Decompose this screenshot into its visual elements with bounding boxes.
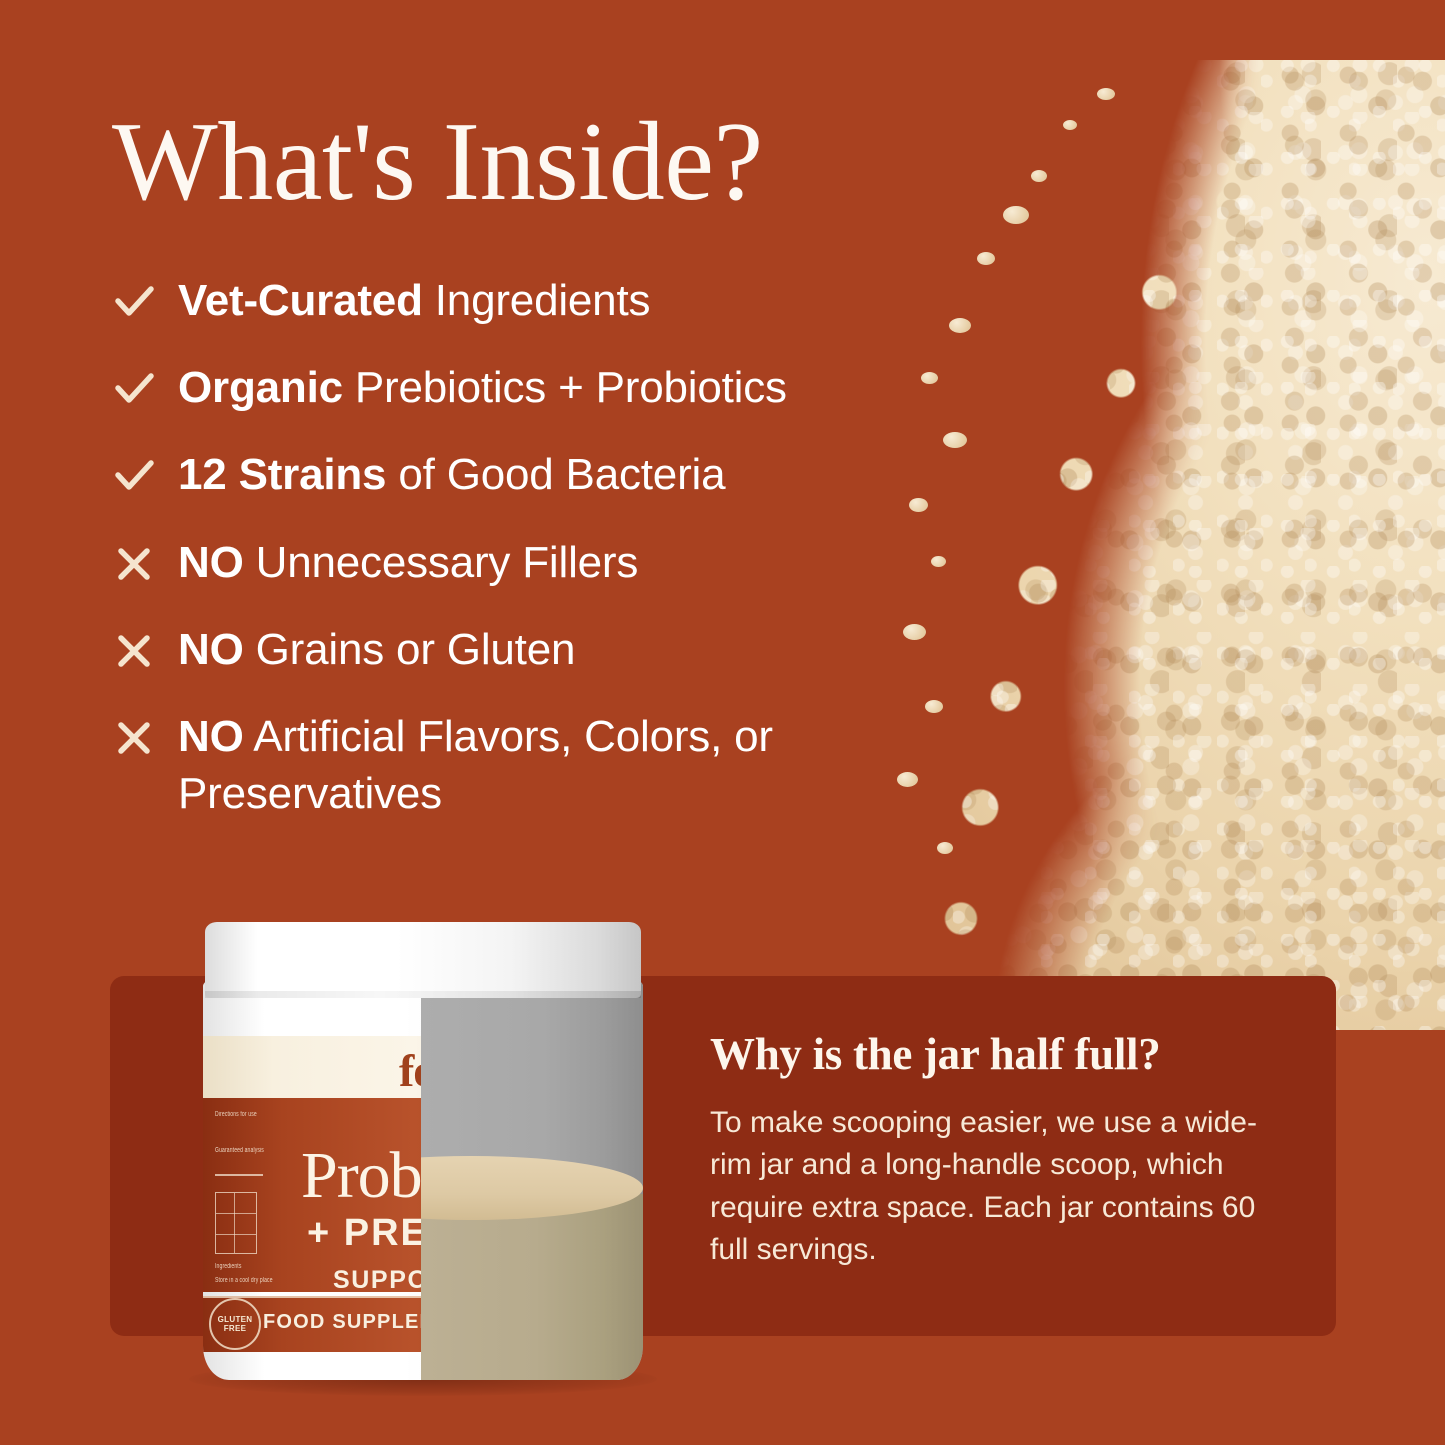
benefit-highlight: NO: [178, 538, 244, 587]
product-jar: Directions for use Guaranteed analysis I…: [203, 922, 643, 1390]
benefit-rest: Prebiotics + Probiotics: [343, 363, 787, 412]
benefit-item: Organic Prebiotics + Probiotics: [108, 359, 1008, 416]
benefit-rest: Unnecessary Fillers: [244, 538, 639, 587]
powder-crumb: [1097, 88, 1115, 100]
check-icon: [108, 363, 160, 415]
jar-cutaway-interior: [421, 980, 643, 1380]
check-icon: [108, 450, 160, 502]
side-panel-line: Guaranteed analysis: [215, 1146, 264, 1157]
benefit-text: NO Artificial Flavors, Colors, or Preser…: [178, 708, 898, 822]
side-panel-rule: [215, 1174, 263, 1176]
benefit-item: NO Grains or Gluten: [108, 621, 1008, 678]
cross-icon: [108, 712, 160, 764]
side-panel-dosage-table: [215, 1192, 257, 1254]
page-title: What's Inside?: [112, 104, 763, 220]
infographic-canvas: What's Inside? Vet-Curated Ingredients O…: [0, 0, 1445, 1445]
card-content: Why is the jar half full? To make scoopi…: [710, 1030, 1290, 1272]
benefit-text: NO Unnecessary Fillers: [178, 534, 638, 591]
benefit-rest: Artificial Flavors, Colors, or Preservat…: [178, 712, 773, 818]
benefit-rest: of Good Bacteria: [386, 450, 725, 499]
benefit-text: 12 Strains of Good Bacteria: [178, 446, 725, 503]
benefit-item: 12 Strains of Good Bacteria: [108, 446, 1008, 503]
jar-lid: [205, 922, 641, 998]
benefit-text: Vet-Curated Ingredients: [178, 272, 650, 329]
side-panel-line: Store in a cool dry place: [215, 1276, 273, 1287]
benefits-list: Vet-Curated Ingredients Organic Prebioti…: [108, 272, 1008, 852]
benefit-item: Vet-Curated Ingredients: [108, 272, 1008, 329]
jar-body: Directions for use Guaranteed analysis I…: [203, 980, 643, 1380]
benefit-text: Organic Prebiotics + Probiotics: [178, 359, 787, 416]
card-body-text: To make scooping easier, we use a wide-r…: [710, 1102, 1290, 1272]
cross-icon: [108, 625, 160, 677]
benefit-rest: Ingredients: [423, 276, 651, 325]
jar-powder-fill: [421, 1194, 643, 1380]
benefit-rest: Grains or Gluten: [244, 625, 576, 674]
benefit-highlight: Vet-Curated: [178, 276, 423, 325]
side-panel-line: Ingredients: [215, 1262, 242, 1273]
gluten-free-badge: GLUTEN FREE: [209, 1298, 261, 1350]
benefit-highlight: Organic: [178, 363, 343, 412]
powder-crumb: [1003, 206, 1029, 224]
cross-icon: [108, 538, 160, 590]
benefit-text: NO Grains or Gluten: [178, 621, 575, 678]
powder-crumb: [1063, 120, 1077, 130]
powder-crumb: [1031, 170, 1047, 182]
card-title: Why is the jar half full?: [710, 1030, 1290, 1080]
powder-crumb: [977, 252, 995, 265]
benefit-highlight: NO: [178, 625, 244, 674]
benefit-highlight: 12 Strains: [178, 450, 386, 499]
benefit-item: NO Unnecessary Fillers: [108, 534, 1008, 591]
benefit-item: NO Artificial Flavors, Colors, or Preser…: [108, 708, 898, 822]
side-panel-line: Directions for use: [215, 1110, 257, 1121]
benefit-highlight: NO: [178, 712, 244, 761]
check-icon: [108, 276, 160, 328]
